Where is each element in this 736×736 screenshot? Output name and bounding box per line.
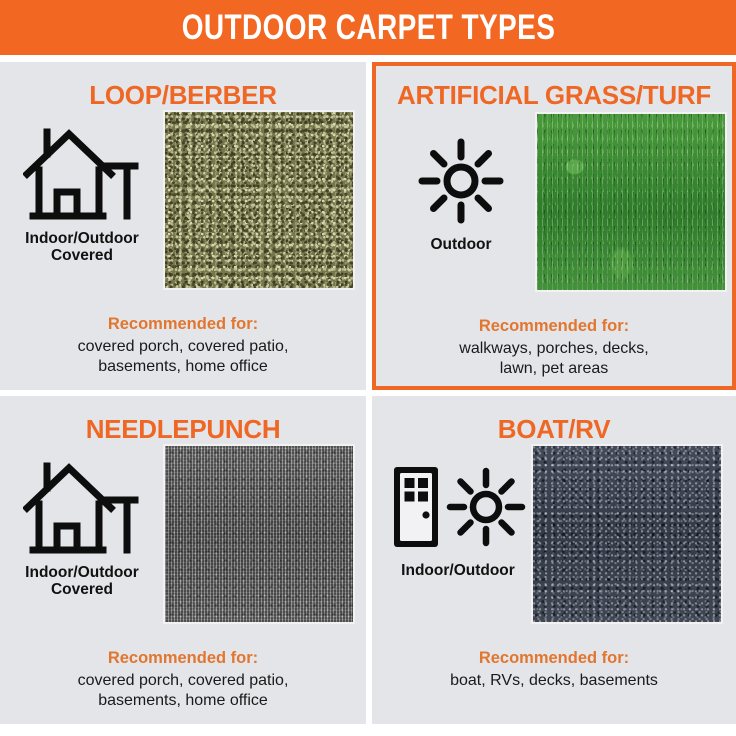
usage-block-artificial-grass-turf: Outdoor bbox=[386, 128, 536, 253]
usage-label-line: Indoor/Outdoor bbox=[25, 230, 139, 247]
panel-grid: LOOP/BERBER Indoor/Outdoor Covered bbox=[0, 62, 736, 724]
panel-needlepunch[interactable]: NEEDLEPUNCH Indoor/Outdoor Covered bbox=[0, 396, 366, 724]
recommended-list: covered porch, covered patio, basements,… bbox=[0, 671, 366, 712]
recommended-block-artificial-grass-turf: Recommended for: walkways, porches, deck… bbox=[376, 317, 732, 380]
house-icon bbox=[6, 120, 158, 228]
usage-block-loop-berber: Indoor/Outdoor Covered bbox=[6, 120, 158, 265]
panel-title-boat-rv: BOAT/RV bbox=[372, 414, 736, 445]
turf-swatch bbox=[535, 112, 727, 292]
recommended-line: basements, home office bbox=[0, 357, 366, 377]
recommended-line: lawn, pet areas bbox=[376, 359, 732, 379]
sun-icon bbox=[450, 471, 522, 543]
recommended-heading: Recommended for: bbox=[0, 649, 366, 668]
needlepunch-swatch bbox=[163, 444, 355, 624]
usage-label-line: Outdoor bbox=[430, 236, 491, 253]
panel-title-loop-berber: LOOP/BERBER bbox=[0, 80, 366, 111]
usage-label-line: Covered bbox=[51, 581, 113, 598]
recommended-line: covered porch, covered patio, bbox=[0, 337, 366, 357]
door-and-sun-icons bbox=[378, 454, 538, 560]
recommended-line: basements, home office bbox=[0, 691, 366, 711]
recommended-block-needlepunch: Recommended for: covered porch, covered … bbox=[0, 649, 366, 712]
door-icon bbox=[394, 467, 438, 547]
usage-label-line: Indoor/Outdoor bbox=[25, 564, 139, 581]
recommended-line: boat, RVs, decks, basements bbox=[372, 671, 736, 691]
usage-label-needlepunch: Indoor/Outdoor Covered bbox=[6, 564, 158, 599]
panel-artificial-grass-turf[interactable]: ARTIFICIAL GRASS/TURF bbox=[372, 62, 736, 390]
usage-label-artificial-grass-turf: Outdoor bbox=[386, 236, 536, 253]
usage-block-needlepunch: Indoor/Outdoor Covered bbox=[6, 454, 158, 599]
panel-title-artificial-grass-turf: ARTIFICIAL GRASS/TURF bbox=[376, 80, 732, 111]
usage-label-boat-rv: Indoor/Outdoor bbox=[378, 562, 538, 579]
header-banner: OUTDOOR CARPET TYPES bbox=[0, 0, 736, 55]
page-title: OUTDOOR CARPET TYPES bbox=[181, 8, 555, 48]
panel-boat-rv[interactable]: BOAT/RV bbox=[372, 396, 736, 724]
usage-label-loop-berber: Indoor/Outdoor Covered bbox=[6, 230, 158, 265]
recommended-heading: Recommended for: bbox=[0, 315, 366, 334]
usage-label-line: Indoor/Outdoor bbox=[401, 562, 515, 579]
recommended-line: covered porch, covered patio, bbox=[0, 671, 366, 691]
recommended-block-loop-berber: Recommended for: covered porch, covered … bbox=[0, 315, 366, 378]
panel-loop-berber[interactable]: LOOP/BERBER Indoor/Outdoor Covered bbox=[0, 62, 366, 390]
recommended-heading: Recommended for: bbox=[372, 649, 736, 668]
recommended-block-boat-rv: Recommended for: boat, RVs, decks, basem… bbox=[372, 649, 736, 691]
usage-block-boat-rv: Indoor/Outdoor bbox=[378, 454, 538, 579]
recommended-heading: Recommended for: bbox=[376, 317, 732, 336]
usage-label-line: Covered bbox=[51, 247, 113, 264]
berber-carpet-swatch bbox=[163, 110, 355, 290]
sun-icon bbox=[386, 128, 536, 234]
recommended-line: walkways, porches, decks, bbox=[376, 339, 732, 359]
recommended-list: boat, RVs, decks, basements bbox=[372, 671, 736, 691]
house-icon bbox=[6, 454, 158, 562]
boat-rv-swatch bbox=[531, 444, 723, 624]
panel-title-needlepunch: NEEDLEPUNCH bbox=[0, 414, 366, 445]
recommended-list: walkways, porches, decks, lawn, pet area… bbox=[376, 339, 732, 380]
recommended-list: covered porch, covered patio, basements,… bbox=[0, 337, 366, 378]
